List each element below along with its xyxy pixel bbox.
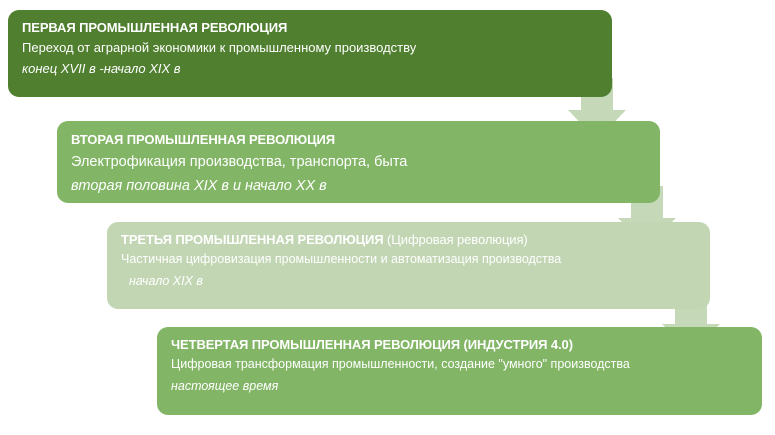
stage-title: ВТОРАЯ ПРОМЫШЛЕННАЯ РЕВОЛЮЦИЯ [71, 131, 646, 148]
stage-title-text: ЧЕТВЕРТАЯ ПРОМЫШЛЕННАЯ РЕВОЛЮЦИЯ (ИНДУСТ… [171, 337, 573, 352]
stage-card-first-industrial-revolution: ПЕРВАЯ ПРОМЫШЛЕННАЯ РЕВОЛЮЦИЯ Переход от… [8, 10, 612, 97]
stage-description: Цифровая трансформация промышленности, с… [171, 357, 748, 373]
stage-description: Электрофикация производства, транспорта,… [71, 153, 646, 171]
stage-title-text: ВТОРАЯ ПРОМЫШЛЕННАЯ РЕВОЛЮЦИЯ [71, 132, 335, 147]
stage-description: Переход от аграрной экономики к промышле… [22, 40, 598, 57]
stage-card-third-industrial-revolution: ТРЕТЬЯ ПРОМЫШЛЕННАЯ РЕВОЛЮЦИЯ (Цифровая … [107, 222, 710, 309]
stage-card-fourth-industrial-revolution: ЧЕТВЕРТАЯ ПРОМЫШЛЕННАЯ РЕВОЛЮЦИЯ (ИНДУСТ… [157, 327, 762, 415]
stage-title: ПЕРВАЯ ПРОМЫШЛЕННАЯ РЕВОЛЮЦИЯ [22, 19, 598, 36]
stage-period: вторая половина XIX в и начало XX в [71, 177, 646, 196]
stage-title: ТРЕТЬЯ ПРОМЫШЛЕННАЯ РЕВОЛЮЦИЯ (Цифровая … [121, 231, 696, 248]
stage-title-text: ТРЕТЬЯ ПРОМЫШЛЕННАЯ РЕВОЛЮЦИЯ [121, 232, 384, 247]
stage-title-suffix: (Цифровая революция) [384, 232, 528, 247]
stage-title: ЧЕТВЕРТАЯ ПРОМЫШЛЕННАЯ РЕВОЛЮЦИЯ (ИНДУСТ… [171, 336, 748, 353]
stage-period: конец XVII в -начало XIX в [22, 61, 598, 78]
stage-period: начало XIX в [121, 273, 696, 289]
stage-card-second-industrial-revolution: ВТОРАЯ ПРОМЫШЛЕННАЯ РЕВОЛЮЦИЯ Электрофик… [57, 121, 660, 203]
stage-title-text: ПЕРВАЯ ПРОМЫШЛЕННАЯ РЕВОЛЮЦИЯ [22, 20, 287, 35]
stage-description: Частичная цифровизация промышленности и … [121, 252, 696, 268]
stage-period: настоящее время [171, 378, 748, 394]
industrial-revolutions-diagram: ПЕРВАЯ ПРОМЫШЛЕННАЯ РЕВОЛЮЦИЯ Переход от… [0, 0, 775, 435]
